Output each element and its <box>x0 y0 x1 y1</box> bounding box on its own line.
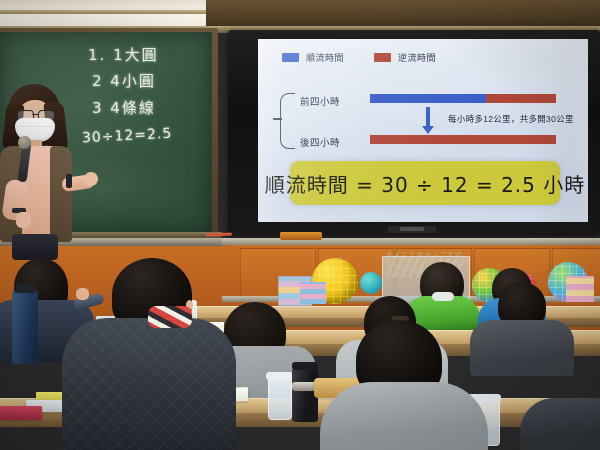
equation-text: 順流時間 = 30 ÷ 12 = 2.5 小時 <box>265 169 585 198</box>
row-label-last-four-hours: 後四小時 <box>300 135 340 149</box>
bar-diagram: 前四小時 每小時多12公里，共多開30公里 後四小時 <box>270 91 580 149</box>
thermos-lid <box>292 362 318 370</box>
chalk-line-1: 1. 1大圓 <box>88 44 159 65</box>
teacher <box>0 84 94 256</box>
student-body <box>320 382 488 450</box>
board-eraser <box>280 232 322 240</box>
display-logo <box>400 227 424 231</box>
slide-legend: 順流時間 逆流時間 <box>282 51 436 64</box>
tumbler-near-center-lid <box>266 372 293 380</box>
teacher-vest-right <box>50 146 72 242</box>
wristwatch <box>66 174 72 188</box>
bar-second-upstream <box>370 135 556 144</box>
water-bottle-left-cap <box>14 284 36 293</box>
legend-label-downstream: 順流時間 <box>306 51 344 64</box>
row-label-first-four-hours: 前四小時 <box>300 94 340 108</box>
legend-swatch-upstream <box>374 53 391 62</box>
teacher-hand-left <box>16 212 31 228</box>
student-scarf <box>148 306 192 328</box>
geodesic-ball-teal <box>360 272 382 294</box>
equation-highlight-box: 順流時間 = 30 ÷ 12 = 2.5 小時 <box>290 161 560 205</box>
legend-label-upstream: 逆流時間 <box>398 51 436 64</box>
student-hand <box>76 288 89 300</box>
legend-item-upstream: 逆流時間 <box>374 51 436 64</box>
slide-annotation: 每小時多12公里，共多開30公里 <box>448 113 574 125</box>
curly-brace-icon <box>280 93 295 149</box>
tumbler-near-center <box>268 378 292 420</box>
teacher-pants <box>12 234 58 260</box>
shelf-ledge-upper <box>222 238 600 245</box>
bar-first-upstream <box>486 94 556 103</box>
slide-screen: 順流時間 逆流時間 前四小時 每小時多12公里，共多開30公里 後四小時 順流時… <box>258 39 588 222</box>
classroom-photo: 1. 1大圓 2 4小圓 3 4條線 30÷12=2.5 順流時間 逆流時間 前… <box>0 0 600 450</box>
student-quilt-texture <box>62 318 236 450</box>
folder-near-left <box>0 406 42 420</box>
chalk-line-2: 2 4小圓 <box>92 70 156 91</box>
student-collar <box>432 292 454 301</box>
pointer-stick <box>206 233 232 237</box>
box-stack-right <box>566 276 594 302</box>
arrow-head <box>422 126 434 134</box>
water-bottle-left <box>12 290 38 364</box>
student-body <box>520 398 600 450</box>
legend-item-downstream: 順流時間 <box>282 51 344 64</box>
legend-swatch-downstream <box>282 53 299 62</box>
teacher-hand-right <box>84 172 98 186</box>
arrow-stem <box>426 107 430 127</box>
student-body <box>470 320 574 376</box>
bar-first-downstream <box>370 94 486 103</box>
box-stack-left-2 <box>300 282 326 304</box>
chalk-line-3: 3 4條線 <box>92 97 156 118</box>
